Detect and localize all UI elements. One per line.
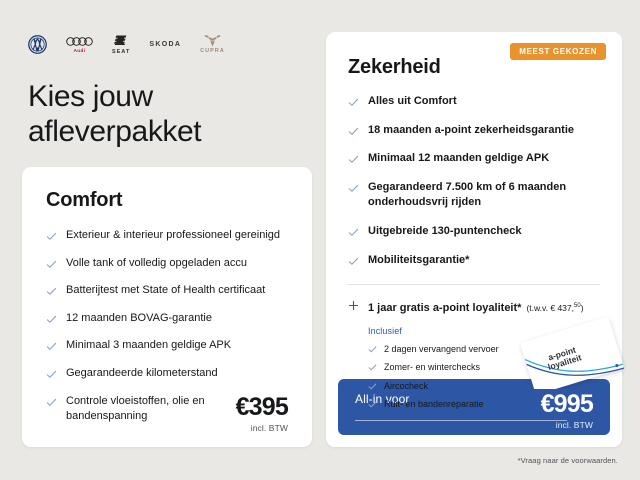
check-icon <box>348 227 359 238</box>
allin-price-note: incl. BTW <box>541 420 593 430</box>
brand-logo-strip: Audi SEAT SKODA CUPRA <box>28 31 225 57</box>
zekerheid-package-card[interactable]: MEEST GEKOZEN Zekerheid Alles uit Comfor… <box>326 32 622 447</box>
check-icon <box>46 397 57 408</box>
check-icon <box>348 183 359 194</box>
list-item: Gegarandeerd 7.500 km of 6 maanden onder… <box>348 180 600 211</box>
cupra-wordmark: CUPRA <box>200 48 225 54</box>
check-icon <box>348 154 359 165</box>
seat-wordmark: SEAT <box>112 49 130 55</box>
plus-icon <box>348 300 359 311</box>
loyalty-value-suffix: ) <box>581 303 584 313</box>
check-icon <box>46 231 57 242</box>
list-item: Gegarandeerde kilometerstand <box>46 366 288 382</box>
zekerheid-card-body: Zekerheid Alles uit Comfort 18 maanden a… <box>326 32 622 410</box>
inclusief-block: Inclusief 2 dagen vervangend vervoer Zom… <box>368 326 600 410</box>
check-icon <box>46 341 57 352</box>
list-item-label: Gegarandeerd 7.500 km of 6 maanden onder… <box>368 180 600 211</box>
check-icon <box>348 126 359 137</box>
list-item: Alles uit Comfort <box>348 94 600 110</box>
vw-roundel-icon <box>28 35 47 54</box>
audi-logo: Audi <box>66 36 93 53</box>
list-item: Minimaal 12 maanden geldige APK <box>348 151 600 167</box>
check-icon <box>368 345 377 354</box>
headline-line-2: afleverpakket <box>28 115 201 148</box>
headline-line-1: Kies jouw <box>28 80 153 113</box>
loyalty-value-prefix: (t.w.v. € 437, <box>526 303 574 313</box>
loyalty-addon-title: 1 jaar gratis a-point loyaliteit* <box>368 302 521 314</box>
list-item: Aircocheck <box>368 380 600 392</box>
list-item-label: Batterijtest met State of Health certifi… <box>66 283 265 299</box>
zekerheid-feature-list: Alles uit Comfort 18 maanden a-point zek… <box>348 94 600 268</box>
list-item: 2 dagen vervangend vervoer <box>368 343 600 355</box>
list-item: Zomer- en winterchecks <box>368 361 600 373</box>
section-divider <box>348 284 600 285</box>
comfort-price-block: €395 incl. BTW <box>236 395 288 433</box>
status-badge: MEEST GEKOZEN <box>510 43 606 60</box>
list-item: 18 maanden a-point zekerheidsgarantie <box>348 123 600 139</box>
list-item: Volle tank of volledig opgeladen accu <box>46 256 288 272</box>
comfort-price: €395 <box>236 395 288 420</box>
list-item: Mobiliteitsgarantie* <box>348 253 600 269</box>
loyalty-addon-row: 1 jaar gratis a-point loyaliteit*(t.w.v.… <box>348 298 600 316</box>
loyalty-value-cents: 50 <box>574 303 581 309</box>
check-icon <box>368 400 377 409</box>
page-root: Audi SEAT SKODA CUPRA Kies jouw afleverp… <box>0 0 640 480</box>
terms-footnote: *Vraag naar de voorwaarden. <box>518 456 618 465</box>
skoda-logo: SKODA <box>149 40 181 48</box>
seat-logo: SEAT <box>112 34 130 55</box>
check-icon <box>46 259 57 270</box>
list-item-label: Mobiliteitsgarantie* <box>368 253 469 269</box>
list-item-label: 18 maanden a-point zekerheidsgarantie <box>368 123 574 139</box>
comfort-package-card[interactable]: Comfort Exterieur & interieur profession… <box>22 167 312 447</box>
volkswagen-logo <box>28 35 47 54</box>
check-icon <box>348 256 359 267</box>
list-item-label: 2 dagen vervangend vervoer <box>384 343 499 355</box>
list-item: Minimaal 3 maanden geldige APK <box>46 338 288 354</box>
list-item-label: Volle tank of volledig opgeladen accu <box>66 256 247 272</box>
list-item-label: Aircocheck <box>384 380 428 392</box>
list-item-label: Ruit- en bandenreparatie <box>384 398 484 410</box>
allin-underline <box>355 420 567 421</box>
list-item: Batterijtest met State of Health certifi… <box>46 283 288 299</box>
cupra-logo: CUPRA <box>200 34 225 54</box>
list-item-label: Zomer- en winterchecks <box>384 361 480 373</box>
check-icon <box>46 369 57 380</box>
list-item-label: 12 maanden BOVAG-garantie <box>66 311 212 327</box>
loyalty-addon-value: (t.w.v. € 437,50) <box>526 303 583 313</box>
inclusief-label: Inclusief <box>368 326 600 336</box>
check-icon <box>46 286 57 297</box>
list-item-label: Minimaal 3 maanden geldige APK <box>66 338 231 354</box>
skoda-wordmark: SKODA <box>149 41 181 48</box>
list-item-label: Exterieur & interieur professioneel gere… <box>66 228 280 244</box>
audi-rings-icon <box>66 36 93 47</box>
list-item: 12 maanden BOVAG-garantie <box>46 311 288 327</box>
list-item: Exterieur & interieur professioneel gere… <box>46 228 288 244</box>
list-item-label: Uitgebreide 130-puntencheck <box>368 224 521 240</box>
page-title: Kies jouw afleverpakket <box>28 80 298 150</box>
comfort-price-note: incl. BTW <box>236 423 288 433</box>
list-item-label: Minimaal 12 maanden geldige APK <box>368 151 549 167</box>
list-item: Uitgebreide 130-puntencheck <box>348 224 600 240</box>
comfort-title: Comfort <box>46 189 288 212</box>
check-icon <box>348 97 359 108</box>
list-item: Ruit- en bandenreparatie <box>368 398 600 410</box>
audi-wordmark: Audi <box>74 48 86 53</box>
inclusief-list: 2 dagen vervangend vervoer Zomer- en win… <box>368 343 600 410</box>
check-icon <box>368 363 377 372</box>
list-item-label: Gegarandeerde kilometerstand <box>66 366 218 382</box>
cupra-tribal-icon <box>204 34 221 47</box>
check-icon <box>368 382 377 391</box>
check-icon <box>46 314 57 325</box>
seat-s-icon <box>114 34 128 48</box>
list-item-label: Alles uit Comfort <box>368 94 457 110</box>
